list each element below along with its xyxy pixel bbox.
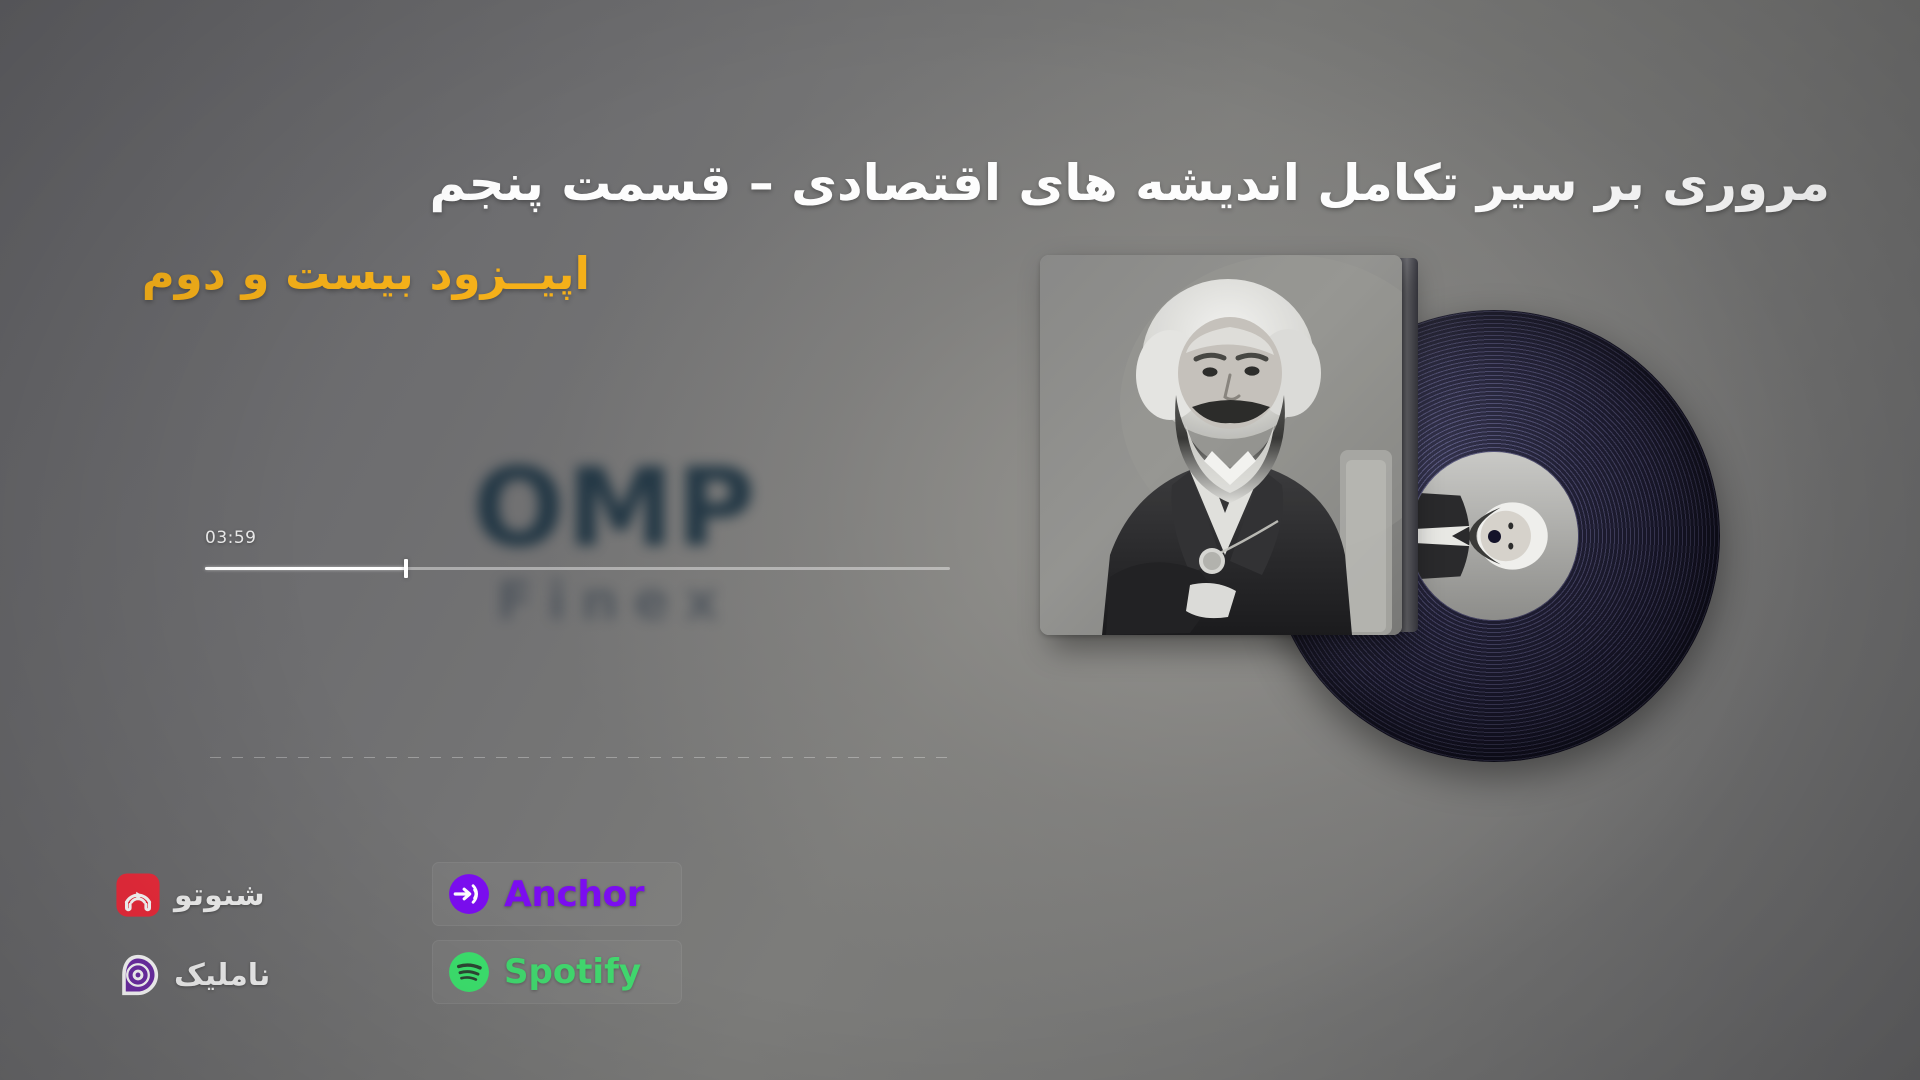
album-cover [1040,255,1402,635]
progress-fill [205,567,406,570]
audio-player[interactable]: 03:59 [205,528,960,570]
vinyl-spindle-hole [1488,530,1501,543]
platform-label-shenoto: شنوتو [174,878,265,913]
subtitle-block: اپیــزود بیست و دوم [142,245,590,304]
progress-thumb[interactable] [404,559,408,578]
platform-badge-shenoto[interactable]: شنوتو [100,862,400,928]
namlik-icon [115,952,161,998]
badge-column-left: شنوتو ناملیک [100,862,400,1008]
spotify-icon [447,950,491,994]
anchor-icon [447,872,491,916]
platform-badge-group: شنوتو ناملیک [100,862,682,1008]
platform-badge-anchor[interactable]: Anchor [432,862,682,926]
poster-stage: مروری بر سیر تکامل اندیشه های اقتصادی – … [0,0,1920,1080]
artwork-group [1040,310,1740,780]
dashed-divider [210,757,950,758]
page-title: مروری بر سیر تکامل اندیشه های اقتصادی – … [400,152,1830,215]
watermark-brand-secondary: Finex [395,569,835,635]
shenoto-icon [115,872,161,918]
platform-badge-namlik[interactable]: ناملیک [100,942,400,1008]
progress-track[interactable] [205,567,950,570]
title-block: مروری بر سیر تکامل اندیشه های اقتصادی – … [400,152,1830,215]
elapsed-time-label: 03:59 [205,528,960,548]
platform-label-anchor: Anchor [504,874,644,915]
episode-subtitle: اپیــزود بیست و دوم [142,245,590,304]
karl-marx-portrait-icon [1040,255,1402,635]
badge-column-right: Anchor Spotify [432,862,682,1008]
platform-label-spotify: Spotify [504,952,641,992]
platform-badge-spotify[interactable]: Spotify [432,940,682,1004]
platform-label-namlik: ناملیک [174,958,270,993]
